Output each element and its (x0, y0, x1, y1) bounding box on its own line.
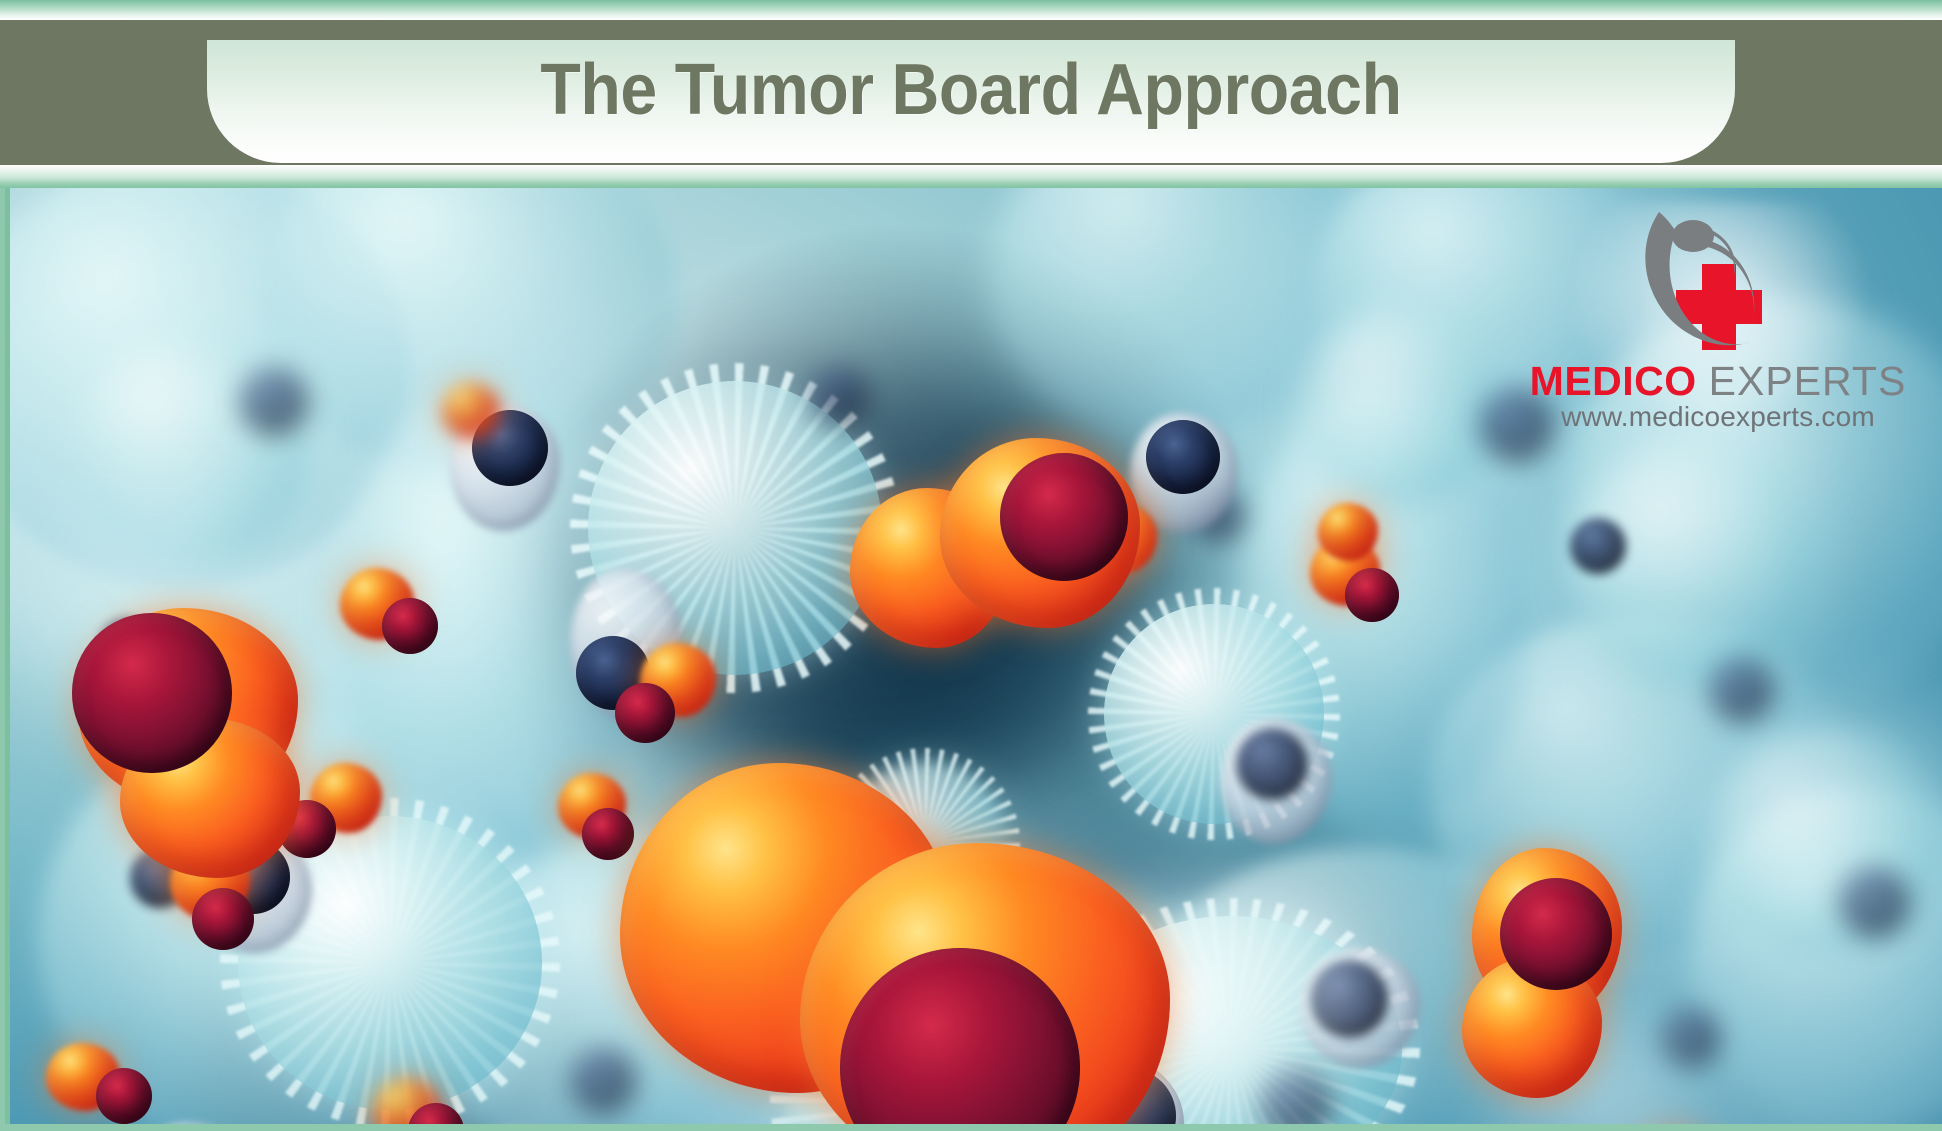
tumor-nucleus (96, 1068, 152, 1124)
tumor-nucleus (192, 888, 254, 950)
logo-url: www.medicoexperts.com (1508, 400, 1928, 434)
logo-name-primary: MEDICO (1530, 358, 1697, 405)
logo-name-secondary: EXPERTS (1709, 358, 1907, 405)
dark-nucleus (1236, 728, 1308, 800)
dark-nucleus (1840, 868, 1910, 938)
title-panel: The Tumor Board Approach (207, 40, 1735, 163)
brand-logo[interactable]: MEDICO EXPERTS www.medicoexperts.com (1508, 198, 1928, 428)
lymphocyte-cell (1300, 308, 1500, 508)
dark-nucleus (1310, 960, 1388, 1038)
dark-nucleus (1570, 518, 1626, 574)
header-divider-strip (0, 165, 1942, 190)
tumor-nucleus (1345, 568, 1399, 622)
logo-wordmark: MEDICO EXPERTS (1508, 358, 1928, 404)
lymphocyte-cell (70, 328, 310, 568)
tumor-nucleus (1000, 453, 1128, 581)
tumor-nucleus (615, 683, 675, 743)
tumor-cell-small (1318, 503, 1378, 561)
dark-nucleus (570, 1048, 636, 1114)
lymphocyte-cell (1710, 728, 1940, 958)
image-frame: MEDICO EXPERTS www.medicoexperts.com (0, 188, 1942, 1131)
slide-root: The Tumor Board Approach (0, 0, 1942, 1131)
dark-nucleus (810, 368, 868, 426)
tumor-nucleus (382, 598, 438, 654)
dark-nucleus (1710, 658, 1774, 722)
dark-nucleus (1660, 1008, 1720, 1068)
top-accent-strip (0, 0, 1942, 20)
dark-nucleus (1146, 420, 1220, 494)
tumor-nucleus (72, 613, 232, 773)
microscopy-image: MEDICO EXPERTS www.medicoexperts.com (10, 188, 1942, 1124)
dark-nucleus (240, 368, 308, 436)
page-title: The Tumor Board Approach (268, 40, 1674, 140)
header-band: The Tumor Board Approach (0, 20, 1942, 165)
tumor-cell-small (442, 383, 500, 439)
tumor-nucleus (1500, 878, 1612, 990)
tumor-nucleus (582, 808, 634, 860)
medical-cross-person-icon (1618, 206, 1803, 364)
